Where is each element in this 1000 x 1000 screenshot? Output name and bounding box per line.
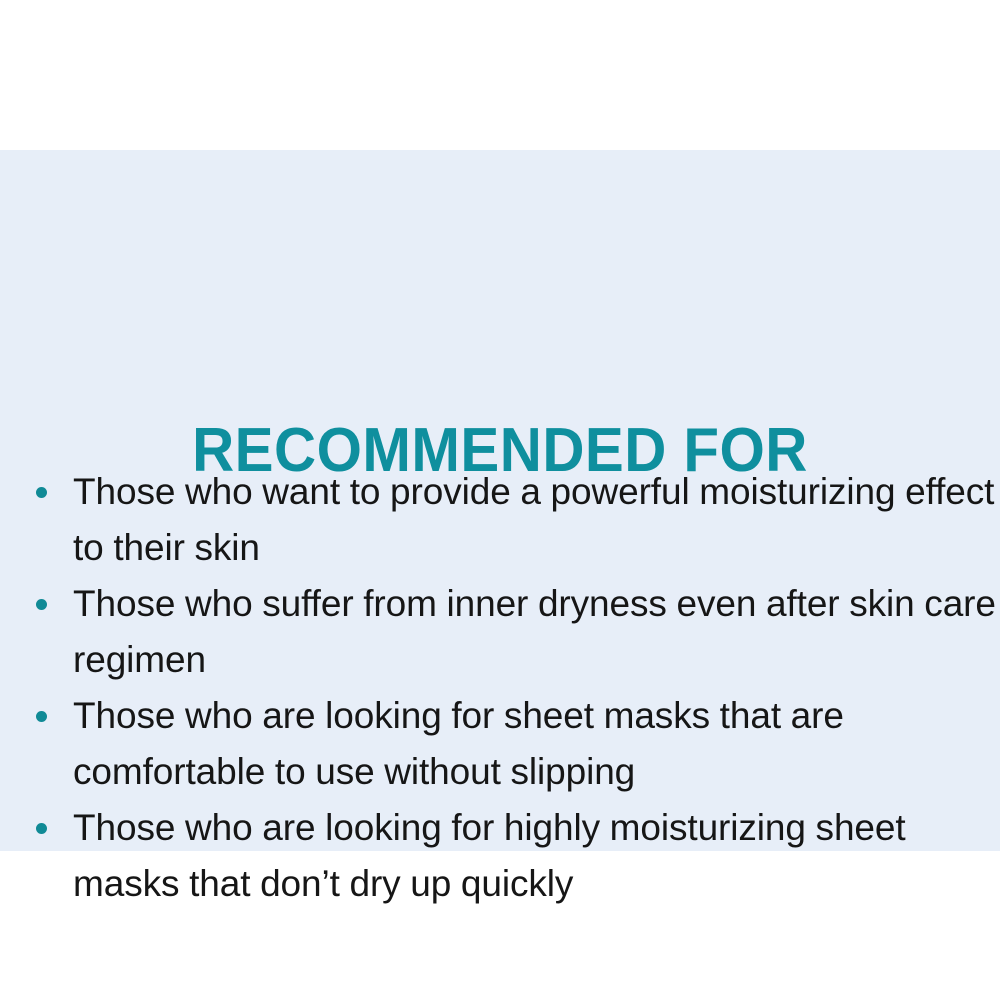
list-item: Those who suffer from inner dryness even… (24, 576, 1000, 688)
bullet-dot-icon (36, 599, 47, 610)
list-item-label: Those who suffer from inner dryness even… (73, 576, 1000, 688)
list-item-label: Those who are looking for highly moistur… (73, 800, 1000, 912)
list-item: Those who are looking for highly moistur… (24, 800, 1000, 912)
recommendation-list: Those who want to provide a powerful moi… (24, 464, 1000, 912)
list-item: Those who want to provide a powerful moi… (24, 464, 1000, 576)
bullet-dot-icon (36, 823, 47, 834)
list-item-label: Those who are looking for sheet masks th… (73, 688, 1000, 800)
list-item: Those who are looking for sheet masks th… (24, 688, 1000, 800)
slide-canvas: RECOMMENDED FOR Those who want to provid… (0, 0, 1000, 1000)
bullet-dot-icon (36, 487, 47, 498)
list-item-label: Those who want to provide a powerful moi… (73, 464, 1000, 576)
content-panel: RECOMMENDED FOR Those who want to provid… (0, 150, 1000, 851)
bullet-dot-icon (36, 711, 47, 722)
